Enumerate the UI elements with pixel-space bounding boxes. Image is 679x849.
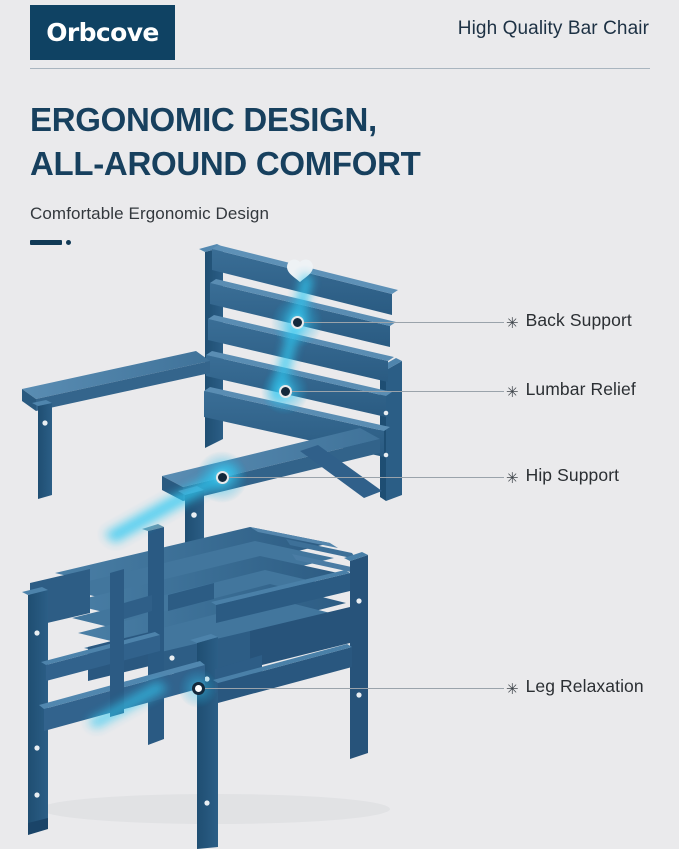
headline-line-1: ERGONOMIC DESIGN, [30, 98, 630, 142]
callout-label-hip-support: Hip Support [526, 467, 620, 485]
asterisk-icon: ✳ [506, 471, 519, 486]
header-divider [30, 68, 650, 69]
asterisk-icon: ✳ [506, 682, 519, 697]
callout-label-back-support: Back Support [526, 312, 632, 330]
subtitle: Comfortable Ergonomic Design [30, 204, 630, 224]
marker-leg-relaxation [192, 682, 205, 695]
page-title: High Quality Bar Chair [458, 18, 649, 40]
marker-lumbar-relief [279, 385, 292, 398]
marker-back-support [291, 316, 304, 329]
page-header: Orbcove High Quality Bar Chair [0, 0, 679, 69]
leader-line-hip-support [222, 477, 504, 478]
marker-hip-support [216, 471, 229, 484]
headline: ERGONOMIC DESIGN, ALL-AROUND COMFORT [30, 98, 630, 186]
brand-logo: Orbcove [30, 5, 175, 60]
leader-line-back-support [297, 322, 504, 323]
callout-label-leg-relaxation: Leg Relaxation [526, 678, 644, 696]
title-block: ERGONOMIC DESIGN, ALL-AROUND COMFORT Com… [30, 98, 630, 245]
product-figure: ✳ Back Support ✳ Lumbar Relief ✳ Hip Sup… [0, 243, 679, 849]
brand-logo-text: Orbcove [46, 18, 159, 47]
asterisk-icon: ✳ [506, 385, 519, 400]
asterisk-icon: ✳ [506, 316, 519, 331]
bar-chair-illustration [0, 243, 679, 849]
headline-line-2: ALL-AROUND COMFORT [30, 142, 630, 186]
leader-line-lumbar-relief [285, 391, 504, 392]
leader-line-leg-relaxation [198, 688, 504, 689]
callout-label-lumbar-relief: Lumbar Relief [526, 381, 636, 399]
